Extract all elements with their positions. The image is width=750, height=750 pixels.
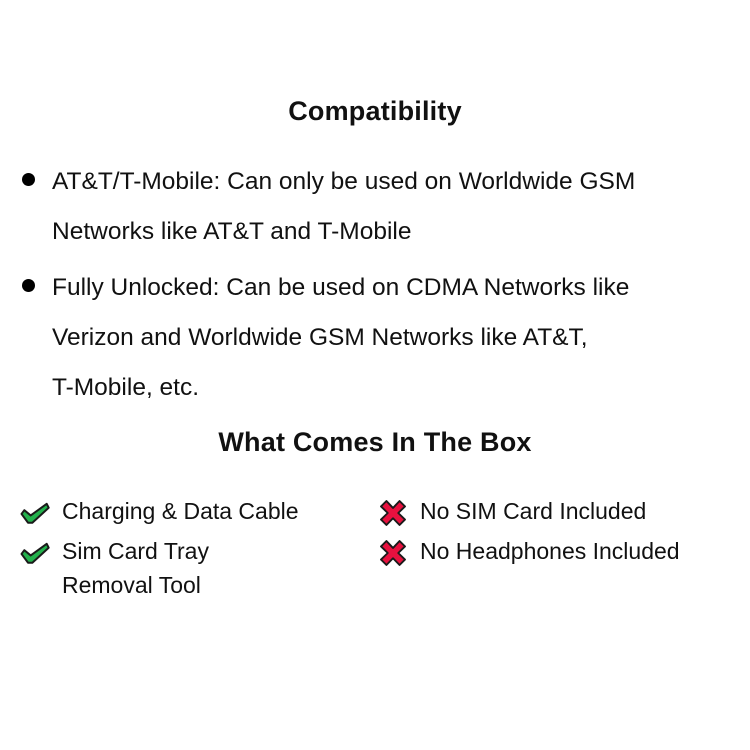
not-included-column: No SIM Card Included No Headphones Inclu… bbox=[378, 494, 734, 608]
list-item: Sim Card TrayRemoval Tool bbox=[20, 534, 378, 602]
list-item: Charging & Data Cable bbox=[20, 494, 378, 528]
bullet-line: T-Mobile, etc. bbox=[52, 374, 199, 401]
box-contents-grid: Charging & Data Cable Sim Card TrayRemov… bbox=[20, 494, 734, 608]
bullet-line: Fully Unlocked: Can be used on CDMA Netw… bbox=[52, 274, 629, 301]
green-check-icon bbox=[20, 498, 50, 528]
included-item-label: Charging & Data Cable bbox=[62, 494, 299, 528]
included-column: Charging & Data Cable Sim Card TrayRemov… bbox=[20, 494, 378, 608]
compatibility-bullet-text-2: Fully Unlocked: Can be used on CDMA Netw… bbox=[47, 263, 629, 413]
compatibility-bullet-list: AT&T/T-Mobile: Can only be used on World… bbox=[22, 157, 734, 419]
green-check-icon bbox=[20, 538, 50, 568]
box-contents-heading: What Comes In The Box bbox=[0, 427, 750, 458]
bullet-line: AT&T/T-Mobile: Can only be used on World… bbox=[52, 168, 635, 195]
bullet-line: Networks like AT&T and T-Mobile bbox=[52, 218, 411, 245]
list-item: Fully Unlocked: Can be used on CDMA Netw… bbox=[22, 263, 734, 413]
list-item: AT&T/T-Mobile: Can only be used on World… bbox=[22, 157, 734, 257]
red-cross-icon bbox=[378, 538, 408, 568]
bullet-line: Verizon and Worldwide GSM Networks like … bbox=[52, 324, 588, 351]
included-item-label: Sim Card TrayRemoval Tool bbox=[62, 534, 209, 602]
label-line: Removal Tool bbox=[62, 572, 201, 598]
filled-circle-bullet-icon bbox=[22, 279, 35, 292]
list-item: No Headphones Included bbox=[378, 534, 734, 568]
compatibility-bullet-text-1: AT&T/T-Mobile: Can only be used on World… bbox=[47, 157, 635, 257]
compatibility-heading: Compatibility bbox=[0, 96, 750, 127]
label-line: Sim Card Tray bbox=[62, 538, 209, 564]
not-included-item-label: No Headphones Included bbox=[420, 534, 680, 568]
list-item: No SIM Card Included bbox=[378, 494, 734, 528]
product-info-page: Compatibility AT&T/T-Mobile: Can only be… bbox=[0, 0, 750, 750]
red-cross-icon bbox=[378, 498, 408, 528]
filled-circle-bullet-icon bbox=[22, 173, 35, 186]
not-included-item-label: No SIM Card Included bbox=[420, 494, 646, 528]
